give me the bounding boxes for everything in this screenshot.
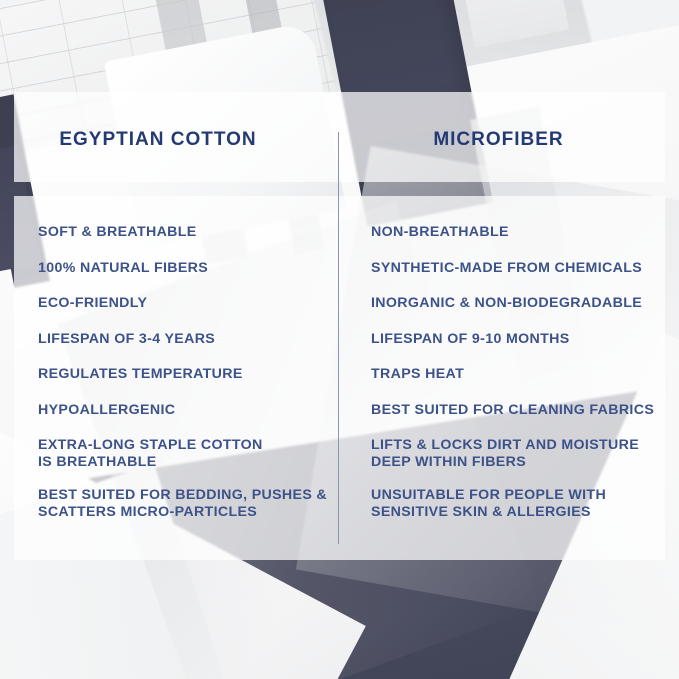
list-item: ECO-FRIENDLY xyxy=(38,295,330,312)
list-item: LIFTS & LOCKS DIRT AND MOISTURE DEEP WIT… xyxy=(371,437,671,471)
list-item: TRAPS HEAT xyxy=(371,366,671,383)
list-item: SOFT & BREATHABLE xyxy=(38,224,330,241)
list-item: BEST SUITED FOR BEDDING, PUSHES & SCATTE… xyxy=(38,487,330,521)
list-item: SYNTHETIC-MADE FROM CHEMICALS xyxy=(371,260,671,277)
feature-list-microfiber: NON-BREATHABLE SYNTHETIC-MADE FROM CHEMI… xyxy=(371,224,671,537)
feature-list-egyptian-cotton: SOFT & BREATHABLE 100% NATURAL FIBERS EC… xyxy=(38,224,330,537)
column-title-microfiber: MICROFIBER xyxy=(328,129,669,151)
list-item: HYPOALLERGENIC xyxy=(38,402,330,419)
list-item: INORGANIC & NON-BIODEGRADABLE xyxy=(371,295,671,312)
comparison-infographic: EGYPTIAN COTTON SOFT & BREATHABLE 100% N… xyxy=(0,0,679,679)
list-item: LIFESPAN OF 3-4 YEARS xyxy=(38,331,330,348)
column-title-egyptian-cotton: EGYPTIAN COTTON xyxy=(0,129,327,151)
list-item: REGULATES TEMPERATURE xyxy=(38,366,330,383)
comparison-content: EGYPTIAN COTTON SOFT & BREATHABLE 100% N… xyxy=(0,0,679,679)
list-item: EXTRA-LONG STAPLE COTTON IS BREATHABLE xyxy=(38,437,330,471)
list-item: UNSUITABLE FOR PEOPLE WITH SENSITIVE SKI… xyxy=(371,487,671,521)
list-item: BEST SUITED FOR CLEANING FABRICS xyxy=(371,402,671,419)
list-item: 100% NATURAL FIBERS xyxy=(38,260,330,277)
list-item: NON-BREATHABLE xyxy=(371,224,671,241)
list-item: LIFESPAN OF 9-10 MONTHS xyxy=(371,331,671,348)
